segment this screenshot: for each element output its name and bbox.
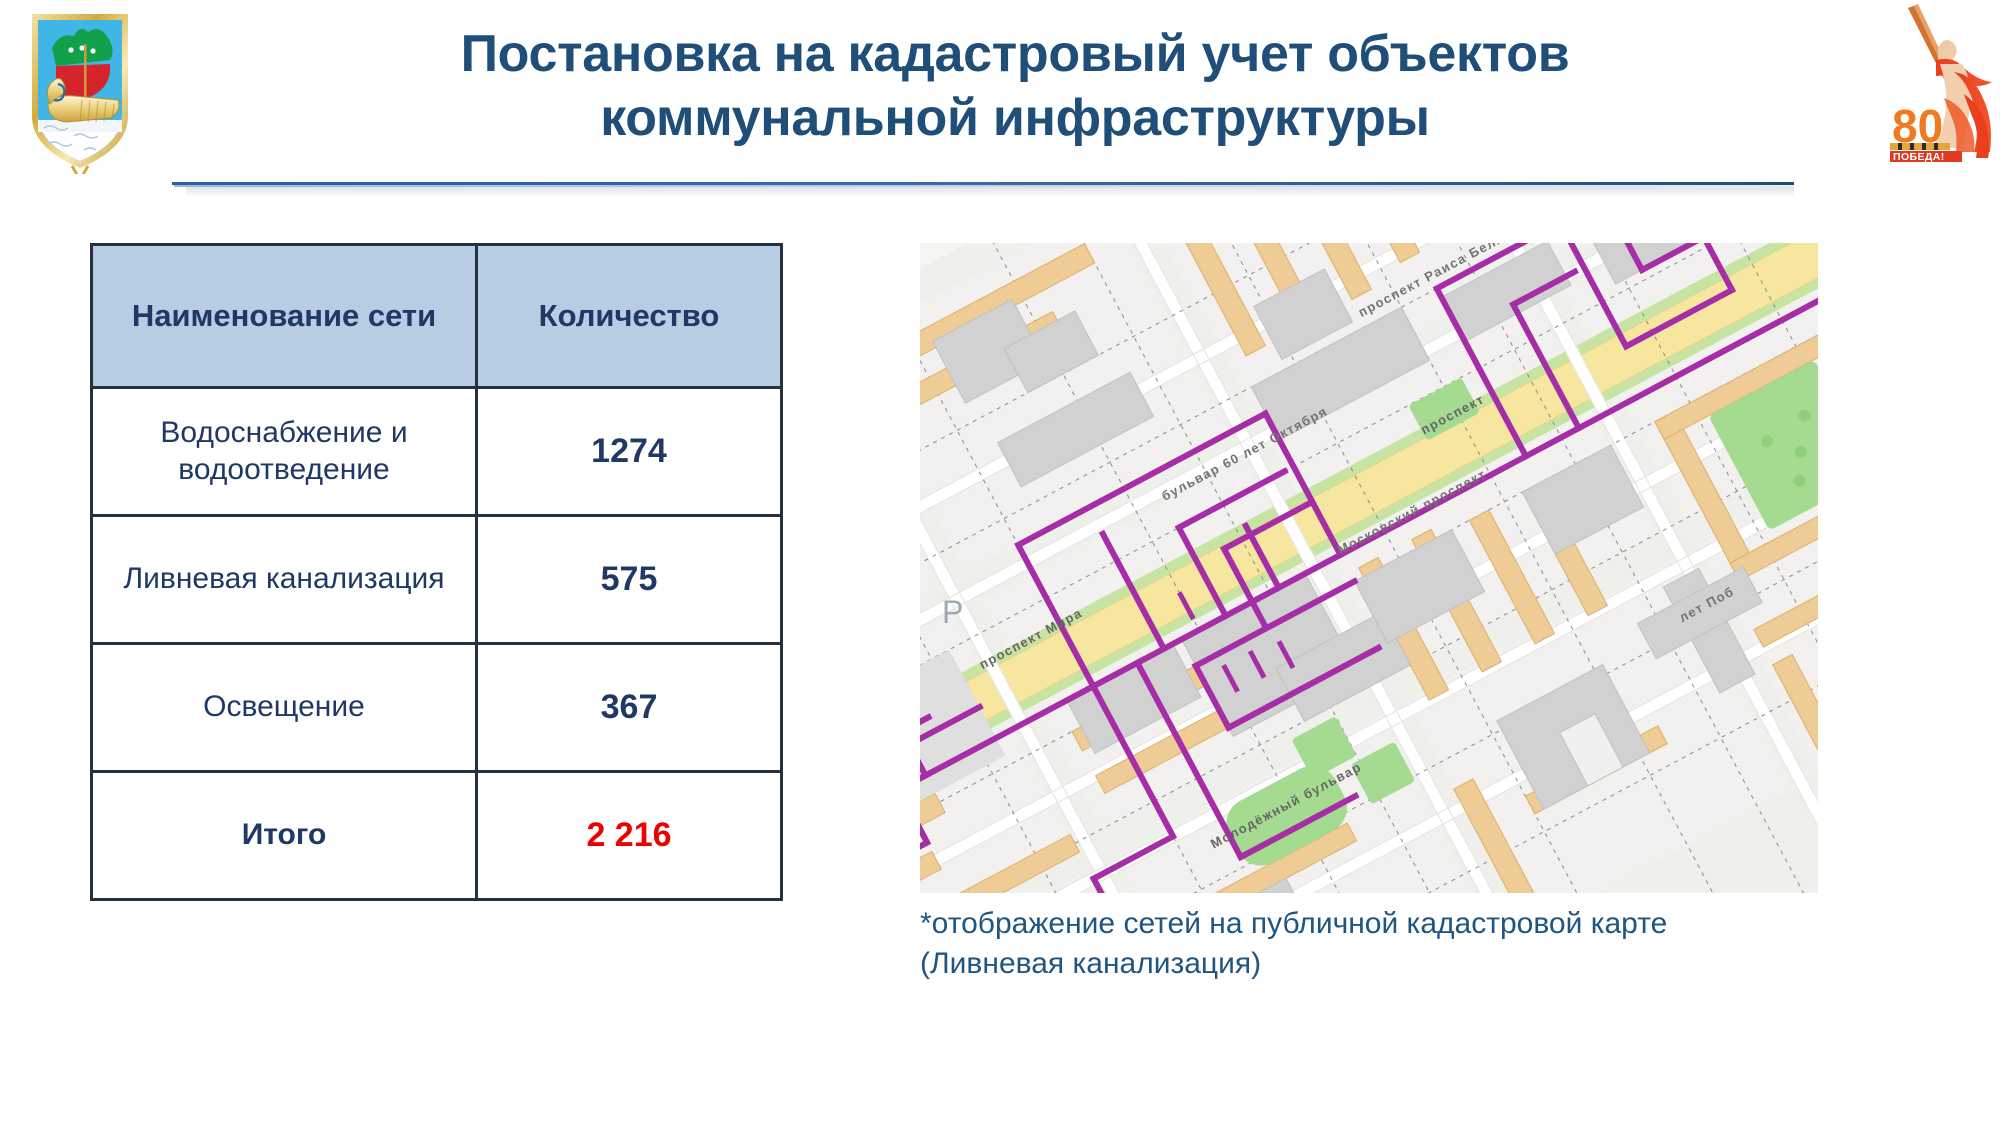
row-label: Освещение: [92, 644, 477, 772]
map-caption-line2: (Ливневая канализация): [920, 944, 1850, 984]
row-count: 575: [477, 516, 782, 644]
table-row: Водоснабжение и водоотведение 1274: [92, 388, 782, 516]
coat-of-arms-icon: [22, 8, 138, 174]
map-caption-line1: *отображение сетей на публичной кадастро…: [920, 904, 1850, 944]
column-header-count: Количество: [477, 245, 782, 388]
column-header-name: Наименование сети: [92, 245, 477, 388]
slide-root: Постановка на кадастровый учет объектов …: [0, 0, 2000, 1125]
map-caption: *отображение сетей на публичной кадастро…: [920, 904, 1850, 984]
table-row: Ливневая канализация 575: [92, 516, 782, 644]
table-total-row: Итого 2 216: [92, 772, 782, 900]
page-title-line1: Постановка на кадастровый учет объектов: [250, 22, 1780, 86]
row-label: Водоснабжение и водоотведение: [92, 388, 477, 516]
total-count: 2 216: [477, 772, 782, 900]
total-label: Итого: [92, 772, 477, 900]
row-label: Ливневая канализация: [92, 516, 477, 644]
victory-anniversary-icon: 80 ПОБЕДА!: [1888, 2, 2000, 162]
table-body: Водоснабжение и водоотведение 1274 Ливне…: [92, 388, 782, 900]
row-count: 367: [477, 644, 782, 772]
row-count: 1274: [477, 388, 782, 516]
cadastral-map-image[interactable]: проспект Мира проспект проспект Раиса Бе…: [920, 243, 1818, 893]
table-header-row: Наименование сети Количество: [92, 245, 782, 388]
page-title: Постановка на кадастровый учет объектов …: [250, 22, 1780, 151]
page-title-line2: коммунальной инфраструктуры: [250, 86, 1780, 150]
networks-table: Наименование сети Количество Водоснабжен…: [90, 243, 783, 901]
table-row: Освещение 367: [92, 644, 782, 772]
map-canvas[interactable]: проспект Мира проспект проспект Раиса Бе…: [920, 243, 1818, 893]
victory-word-text: ПОБЕДА!: [1893, 151, 1945, 162]
title-divider: [172, 182, 1794, 188]
